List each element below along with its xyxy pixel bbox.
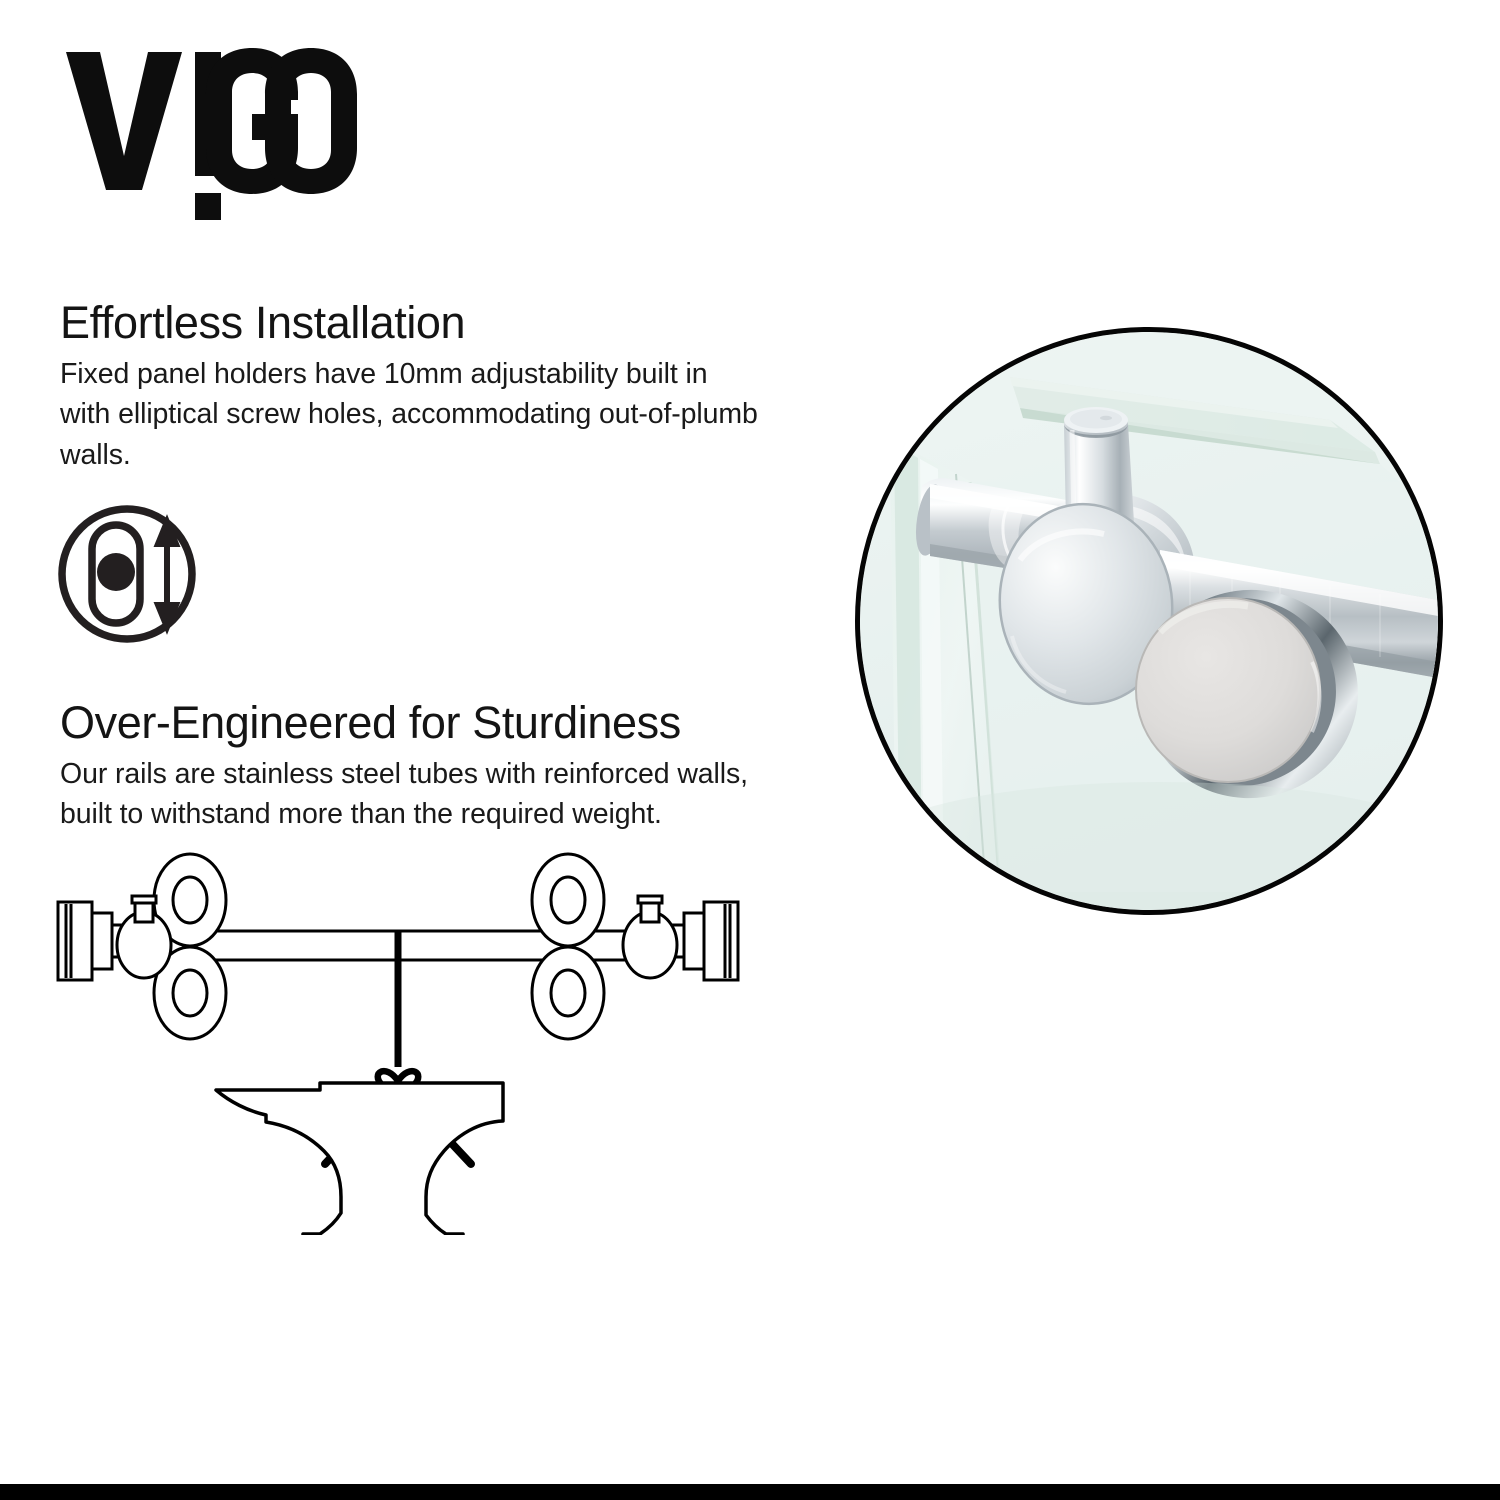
feature-block-over-engineered-sturdiness: Over-Engineered for Sturdiness Our rails… [60,700,790,835]
vigo-logo [62,38,362,228]
feature-title: Over-Engineered for Sturdiness [60,700,790,746]
photo-inner [860,332,1438,910]
rail-with-suspended-anvil-diagram [48,845,748,1235]
feature-block-effortless-installation: Effortless Installation Fixed panel hold… [60,300,760,475]
feature-body: Fixed panel holders have 10mm adjustabil… [60,354,760,475]
bottom-bar [0,1484,1500,1500]
feature-body: Our rails are stainless steel tubes with… [60,754,790,835]
roller-hardware-closeup-photo [855,327,1443,915]
elliptical-slot-adjustability-icon [54,492,229,664]
feature-title: Effortless Installation [60,300,760,346]
infographic-page: Effortless Installation Fixed panel hold… [0,0,1500,1500]
